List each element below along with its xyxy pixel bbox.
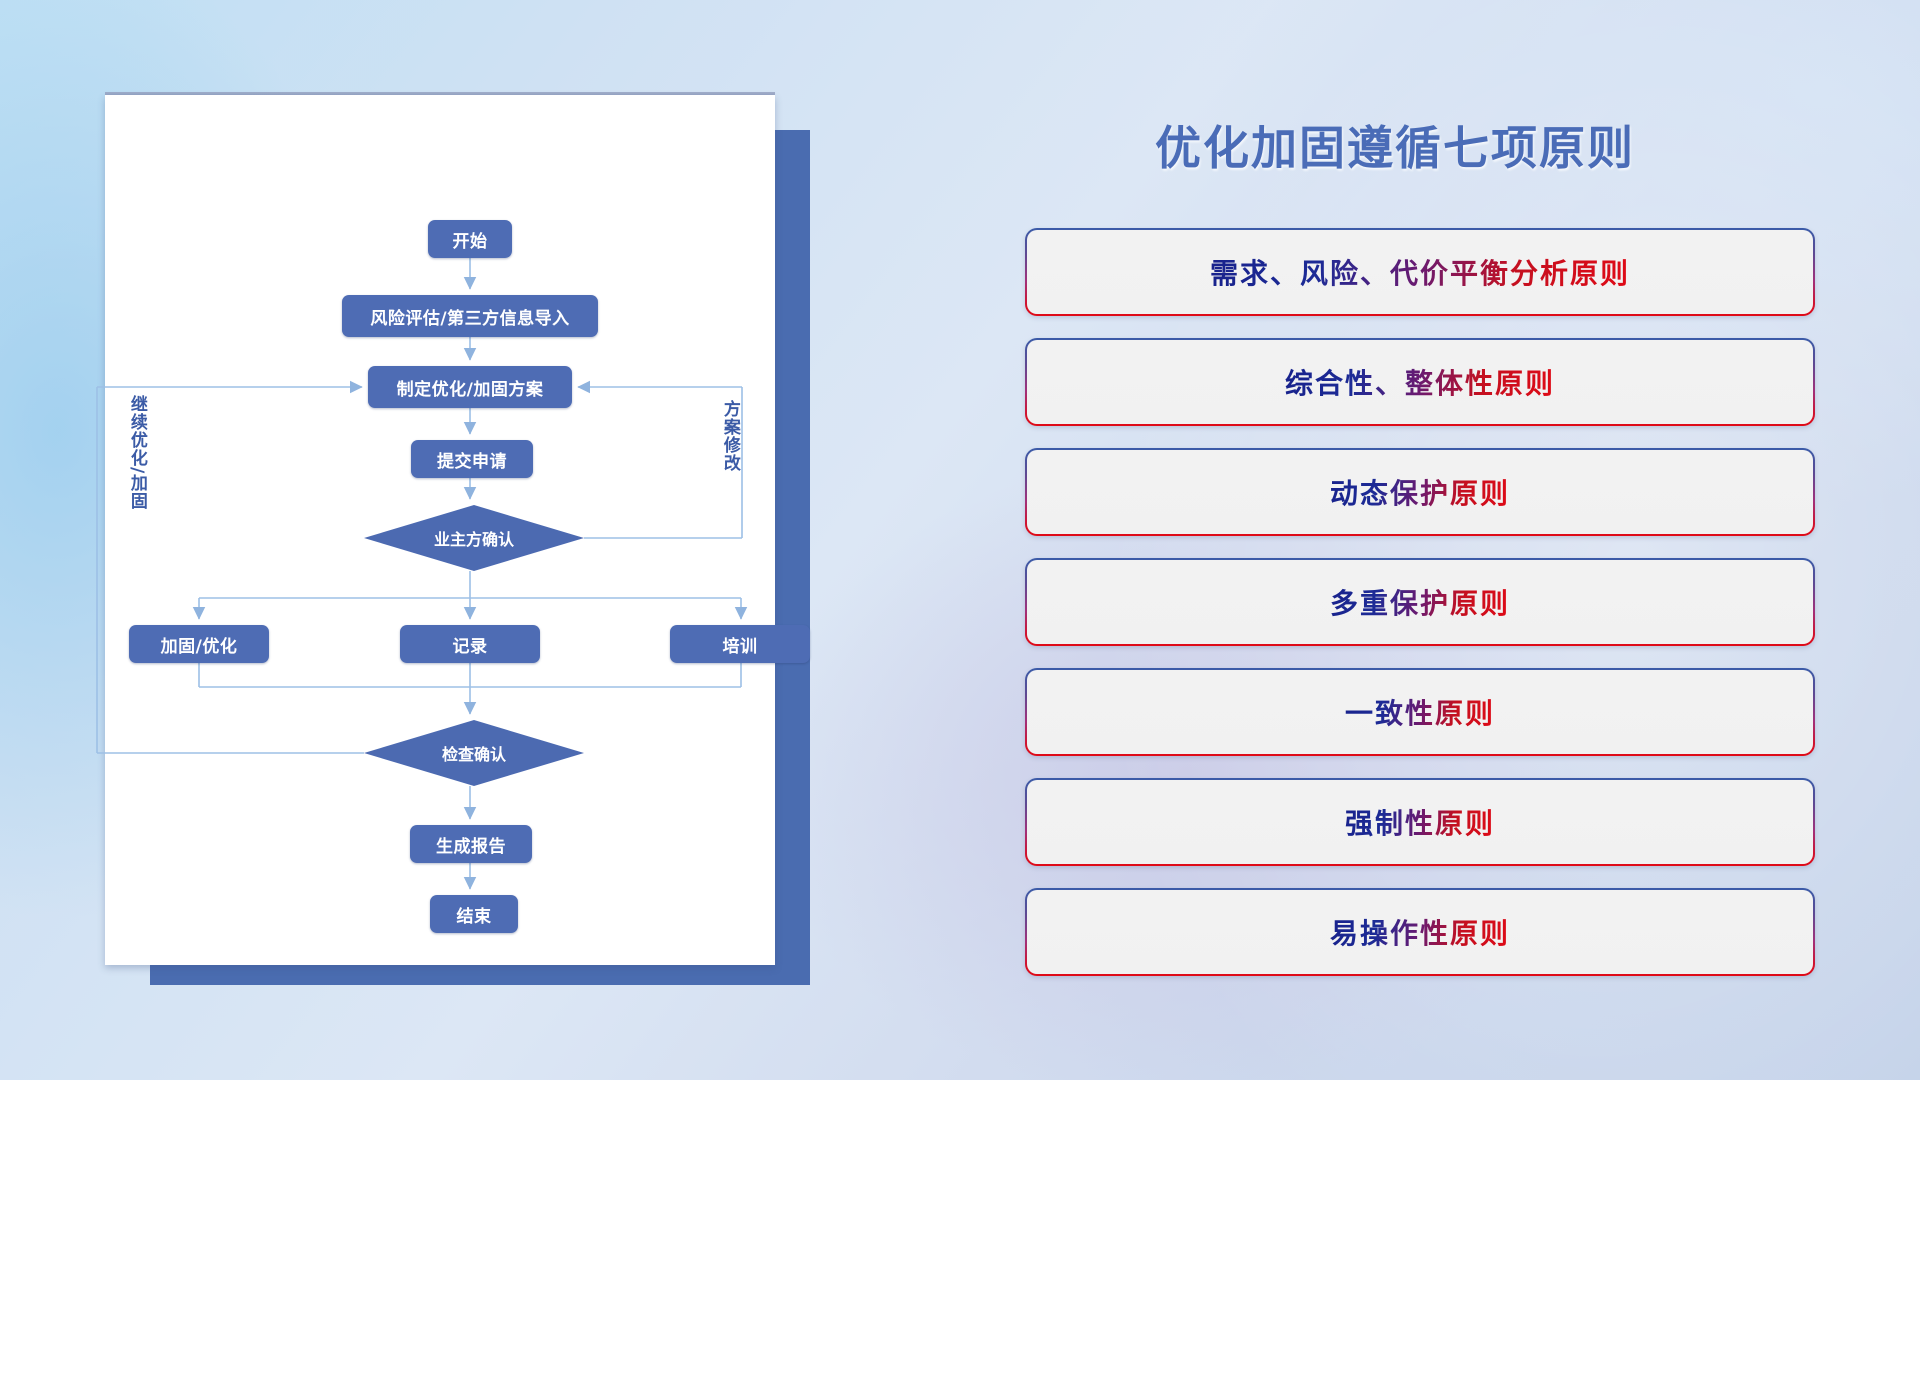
flow-node-start[interactable]: 开始: [428, 220, 512, 258]
principle-label: 综合性、整体性原则: [1285, 362, 1555, 402]
flow-node-submit[interactable]: 提交申请: [411, 440, 533, 478]
flow-node-label: 开始: [453, 227, 488, 252]
flow-node-plan[interactable]: 制定优化/加固方案: [368, 366, 572, 408]
principle-card-4[interactable]: 多重保护原则: [1025, 558, 1815, 646]
flow-node-report[interactable]: 生成报告: [410, 825, 532, 863]
diamond-shape: 业主方确认: [364, 505, 584, 571]
principle-card-6[interactable]: 强制性原则: [1025, 778, 1815, 866]
flow-node-label: 培训: [723, 632, 758, 657]
flow-node-label: 生成报告: [436, 832, 506, 857]
principle-label: 一致性原则: [1345, 692, 1495, 732]
principle-label: 强制性原则: [1345, 802, 1495, 842]
flow-node-label: 加固/优化: [161, 632, 238, 657]
principle-label: 动态保护原则: [1330, 472, 1510, 512]
principle-label: 需求、风险、代价平衡分析原则: [1210, 252, 1630, 292]
principle-card-1[interactable]: 需求、风险、代价平衡分析原则: [1025, 228, 1815, 316]
principle-card-3[interactable]: 动态保护原则: [1025, 448, 1815, 536]
flowchart-panel: 开始 风险评估/第三方信息导入 制定优化/加固方案 提交申请 业主方确认 加固/…: [105, 95, 775, 965]
flow-node-owner-confirm[interactable]: 业主方确认: [364, 505, 584, 571]
flow-node-check-confirm[interactable]: 检查确认: [364, 720, 584, 786]
flow-node-risk[interactable]: 风险评估/第三方信息导入: [342, 295, 598, 337]
flow-node-label: 业主方确认: [434, 526, 514, 550]
flow-node-label: 结束: [457, 902, 492, 927]
diamond-shape: 检查确认: [364, 720, 584, 786]
flow-label-continue-optimize: 继续优化/加固: [127, 395, 145, 510]
principle-card-7[interactable]: 易操作性原则: [1025, 888, 1815, 976]
flow-node-label: 记录: [453, 632, 488, 657]
principles-title: 优化加固遵循七项原则: [1155, 112, 1635, 178]
principle-label: 多重保护原则: [1330, 582, 1510, 622]
flow-node-label: 风险评估/第三方信息导入: [370, 304, 569, 329]
flow-node-label: 制定优化/加固方案: [397, 375, 544, 400]
flow-node-reinforce[interactable]: 加固/优化: [129, 625, 269, 663]
principle-card-2[interactable]: 综合性、整体性原则: [1025, 338, 1815, 426]
flow-node-record[interactable]: 记录: [400, 625, 540, 663]
flow-node-train[interactable]: 培训: [670, 625, 810, 663]
flow-node-end[interactable]: 结束: [430, 895, 518, 933]
principle-card-5[interactable]: 一致性原则: [1025, 668, 1815, 756]
principle-label: 易操作性原则: [1330, 912, 1510, 952]
flow-node-label: 提交申请: [437, 447, 507, 472]
flowchart: 开始 风险评估/第三方信息导入 制定优化/加固方案 提交申请 业主方确认 加固/…: [105, 95, 775, 965]
flow-node-label: 检查确认: [442, 741, 506, 765]
flow-label-plan-revise: 方案修改: [720, 400, 738, 472]
